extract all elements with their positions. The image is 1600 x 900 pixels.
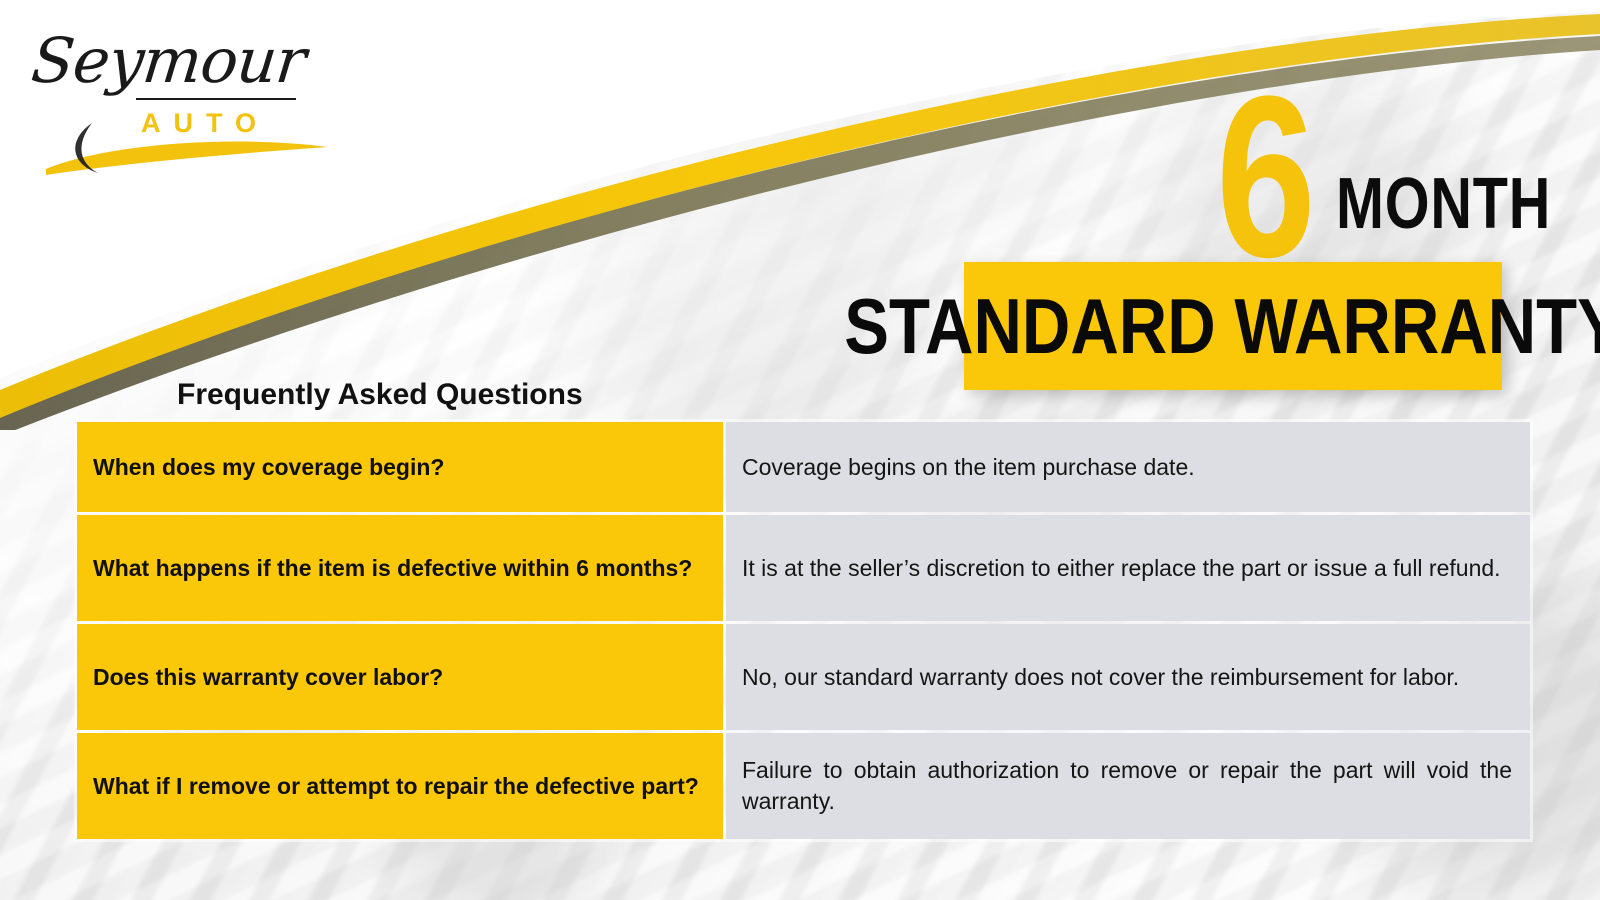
faq-answer-cell: Coverage begins on the item purchase dat…: [726, 422, 1530, 512]
table-row: When does my coverage begin? Coverage be…: [77, 422, 1530, 512]
faq-table: When does my coverage begin? Coverage be…: [74, 419, 1533, 842]
faq-answer-cell: Failure to obtain authorization to remov…: [726, 733, 1530, 839]
standard-warranty-title: STANDARD WARRANTY: [844, 287, 1600, 365]
faq-question-cell: When does my coverage begin?: [77, 422, 723, 512]
faq-question-cell: What if I remove or attempt to repair th…: [77, 733, 723, 839]
brand-logo[interactable]: Seymour AUTO: [28, 22, 348, 172]
warranty-slide: Seymour AUTO 6 MONTH STANDARD WARRANTY F…: [0, 0, 1600, 900]
table-row: What happens if the item is defective wi…: [77, 515, 1530, 621]
faq-answer-cell: No, our standard warranty does not cover…: [726, 624, 1530, 730]
logo-underline-rule: [136, 98, 296, 100]
table-row: Does this warranty cover labor? No, our …: [77, 624, 1530, 730]
logo-swoosh-icon: [28, 117, 358, 177]
duration-number: 6: [1216, 62, 1313, 292]
faq-question-cell: What happens if the item is defective wi…: [77, 515, 723, 621]
faq-section-title: Frequently Asked Questions: [177, 378, 583, 412]
logo-wordmark: Seymour: [28, 24, 309, 97]
duration-unit: MONTH: [1336, 168, 1551, 240]
table-row: What if I remove or attempt to repair th…: [77, 733, 1530, 839]
faq-question-cell: Does this warranty cover labor?: [77, 624, 723, 730]
faq-answer-cell: It is at the seller’s discretion to eith…: [726, 515, 1530, 621]
standard-warranty-banner: STANDARD WARRANTY: [964, 262, 1502, 390]
